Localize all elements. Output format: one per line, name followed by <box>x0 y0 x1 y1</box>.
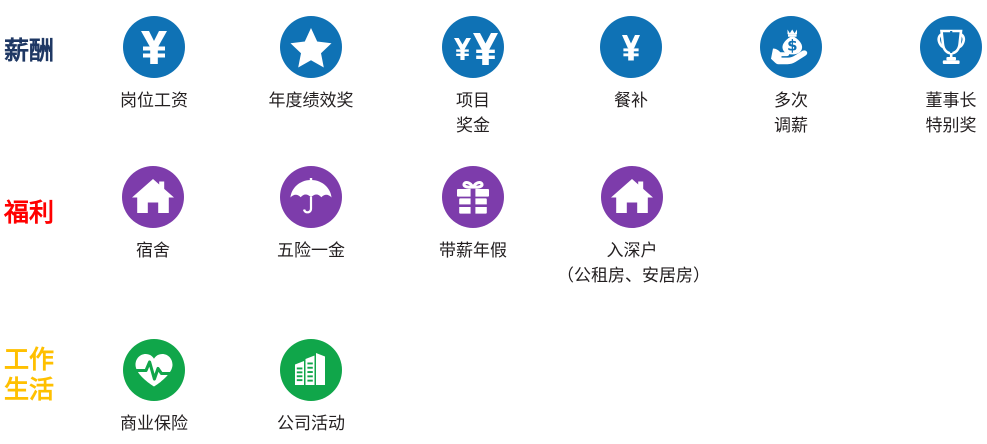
benefit-item-label: 餐补 <box>556 89 706 114</box>
category-row-worklife: 工作 生活 商业保险 <box>0 325 987 444</box>
category-label-compensation: 薪酬 <box>4 36 54 66</box>
double-yen-icon <box>442 16 504 78</box>
benefits-overview: 薪酬 岗位工资 <box>0 0 987 444</box>
category-label-welfare: 福利 <box>4 198 54 228</box>
benefit-item-social-insurance[interactable]: 五险一金 <box>236 166 386 264</box>
yen-circle-icon <box>123 16 185 78</box>
buildings-icon <box>280 339 342 401</box>
category-label-worklife: 工作 生活 <box>4 345 54 405</box>
benefit-item-label: 入深户 （公租房、安居房） <box>557 239 707 289</box>
benefit-item-label: 带薪年假 <box>398 239 548 264</box>
benefit-item-label: 项目 奖金 <box>398 89 548 139</box>
benefit-item-label: 宿舍 <box>78 239 228 264</box>
benefit-item-label: 年度绩效奖 <box>236 89 386 114</box>
benefit-item-shenzhen-hukou[interactable]: 入深户 （公租房、安居房） <box>557 166 707 289</box>
benefit-item-label: 多次 调薪 <box>716 89 866 139</box>
benefit-item-paid-leave[interactable]: 带薪年假 <box>398 166 548 264</box>
benefit-item-raises[interactable]: $ 多次 调薪 <box>716 16 866 139</box>
benefit-item-label: 董事长 特别奖 <box>876 89 987 139</box>
yen-flat-icon <box>600 16 662 78</box>
benefit-item-label: 五险一金 <box>236 239 386 264</box>
benefit-item-dormitory[interactable]: 宿舍 <box>78 166 228 264</box>
star-icon <box>280 16 342 78</box>
benefit-item-annual-bonus[interactable]: 年度绩效奖 <box>236 16 386 114</box>
benefit-item-chairman-award[interactable]: 董事长 特别奖 <box>876 16 987 139</box>
heart-pulse-icon <box>123 339 185 401</box>
trophy-icon <box>920 16 982 78</box>
benefit-item-salary[interactable]: 岗位工资 <box>79 16 229 114</box>
benefit-item-label: 公司活动 <box>236 412 386 437</box>
benefit-item-project-bonus[interactable]: 项目 奖金 <box>398 16 548 139</box>
gift-box-icon <box>442 166 504 228</box>
category-row-compensation: 薪酬 岗位工资 <box>0 0 987 150</box>
benefit-item-label: 岗位工资 <box>79 89 229 114</box>
benefit-item-label: 商业保险 <box>79 412 229 437</box>
house-icon <box>601 166 663 228</box>
category-row-welfare: 福利 宿舍 <box>0 150 987 325</box>
benefit-item-commercial-insurance[interactable]: 商业保险 <box>79 339 229 437</box>
benefit-item-company-activities[interactable]: 公司活动 <box>236 339 386 437</box>
umbrella-icon <box>280 166 342 228</box>
house-icon <box>122 166 184 228</box>
money-bag-hand-icon: $ <box>760 16 822 78</box>
benefit-item-meal-allowance[interactable]: 餐补 <box>556 16 706 114</box>
svg-text:$: $ <box>787 37 797 55</box>
